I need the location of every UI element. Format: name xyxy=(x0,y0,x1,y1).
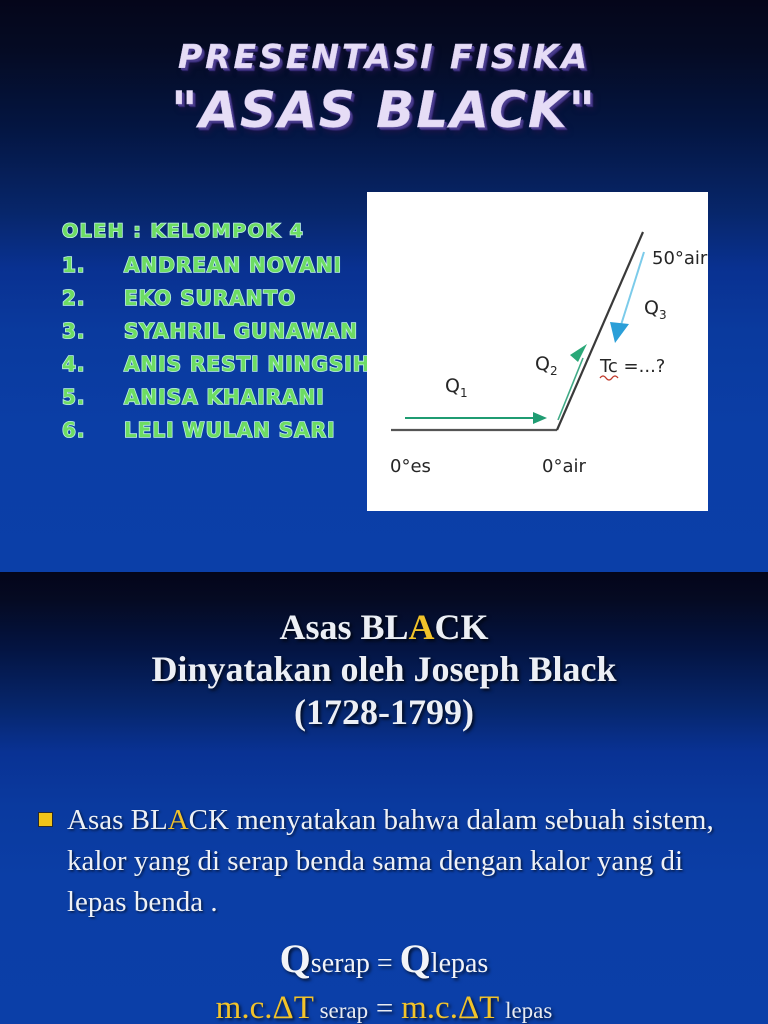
member-name: SYAHRIL GUNAWAN xyxy=(124,321,370,341)
diagram-label-q2: Q xyxy=(535,353,550,375)
list-item: Asas BLACK menyatakan bahwa dalam sebuah… xyxy=(38,800,738,924)
list-item: 1. ANDREAN NOVANI xyxy=(62,255,370,275)
heading-ck: CK xyxy=(435,607,489,647)
group-members-block: OLEH : KELOMPOK 4 1. ANDREAN NOVANI 2. E… xyxy=(62,222,370,453)
heading-line-3: (1728-1799) xyxy=(0,691,768,733)
member-name: ANISA KHAIRANI xyxy=(124,387,370,407)
square-bullet-icon xyxy=(38,812,53,827)
slide-1-title: PRESENTASI FISIKA "ASAS BLACK" OLEH : KE… xyxy=(0,0,768,572)
member-number: 2. xyxy=(62,288,124,308)
diagram-label-q1: Q xyxy=(445,375,460,397)
heading-line-2: Dinyatakan oleh Joseph Black xyxy=(0,648,768,690)
diagram-label-unknown-temp: Tc =...? xyxy=(599,356,665,377)
bullet-text: Asas BLACK menyatakan bahwa dalam sebuah… xyxy=(67,800,738,924)
member-name: ANDREAN NOVANI xyxy=(124,255,370,275)
formula2-sub-left: serap xyxy=(314,998,368,1023)
member-number: 1. xyxy=(62,255,124,275)
member-name: LELI WULAN SARI xyxy=(124,420,370,440)
bullet-gold-a: A xyxy=(168,804,189,836)
bullet-asas-bl: Asas BL xyxy=(67,804,168,836)
formula2-right: m.c.ΔT xyxy=(401,990,499,1024)
formula-q-serap-lepas: Qserap = Qlepas xyxy=(0,935,768,982)
member-number: 3. xyxy=(62,321,124,341)
formula1-q-right: Q xyxy=(400,936,431,981)
member-name: EKO SURANTO xyxy=(124,288,370,308)
member-number: 4. xyxy=(62,354,124,374)
svg-text:Q2: Q2 xyxy=(535,353,558,378)
formula1-equals: = xyxy=(370,948,400,979)
slide-2-content: Asas BLACK Dinyatakan oleh Joseph Black … xyxy=(0,572,768,1024)
list-item: 2. EKO SURANTO xyxy=(62,288,370,308)
diagram-label-start-temp: 0°es xyxy=(390,456,431,477)
formula2-sub-right: lepas xyxy=(499,998,552,1023)
slide-1-title-block: PRESENTASI FISIKA "ASAS BLACK" xyxy=(0,40,768,135)
list-item: 3. SYAHRIL GUNAWAN xyxy=(62,321,370,341)
slide-2-heading: Asas BLACK Dinyatakan oleh Joseph Black … xyxy=(0,606,768,733)
svg-text:Q1: Q1 xyxy=(445,375,468,400)
member-number: 6. xyxy=(62,420,124,440)
list-item: 5. ANISA KHAIRANI xyxy=(62,387,370,407)
svg-text:Q3: Q3 xyxy=(644,297,667,322)
heading-gold-a: A xyxy=(409,607,435,647)
formula1-sub-right: lepas xyxy=(431,948,489,979)
list-item: 6. LELI WULAN SARI xyxy=(62,420,370,440)
diagram-label-q3: Q xyxy=(644,297,659,319)
members-heading: OLEH : KELOMPOK 4 xyxy=(62,222,370,241)
list-item: 4. ANIS RESTI NINGSIH xyxy=(62,354,370,374)
member-name: ANIS RESTI NINGSIH xyxy=(124,354,370,374)
diagram-label-mid-temp: 0°air xyxy=(542,456,586,477)
heading-line-1: Asas BLACK xyxy=(0,606,768,648)
member-number: 5. xyxy=(62,387,124,407)
formula1-sub-left: serap xyxy=(311,948,370,979)
body-bullet-block: Asas BLACK menyatakan bahwa dalam sebuah… xyxy=(38,800,738,924)
formula1-q-left: Q xyxy=(280,936,311,981)
formula-mcdeltat: m.c.ΔT serap = m.c.ΔT lepas xyxy=(0,990,768,1024)
diagram-label-end-temp: 50°air xyxy=(652,248,708,269)
presentation-main-title: "ASAS BLACK" xyxy=(0,85,768,135)
formula2-left: m.c.ΔT xyxy=(216,990,314,1024)
heading-asas-bl: Asas BL xyxy=(279,607,408,647)
presentation-subject-title: PRESENTASI FISIKA xyxy=(0,40,768,73)
heat-transfer-diagram: Q1 Q2 Q3 0°es 0°air 50°air Tc =...? xyxy=(367,192,708,511)
presentation-page: PRESENTASI FISIKA "ASAS BLACK" OLEH : KE… xyxy=(0,0,768,1024)
formula2-equals: = xyxy=(368,990,401,1024)
